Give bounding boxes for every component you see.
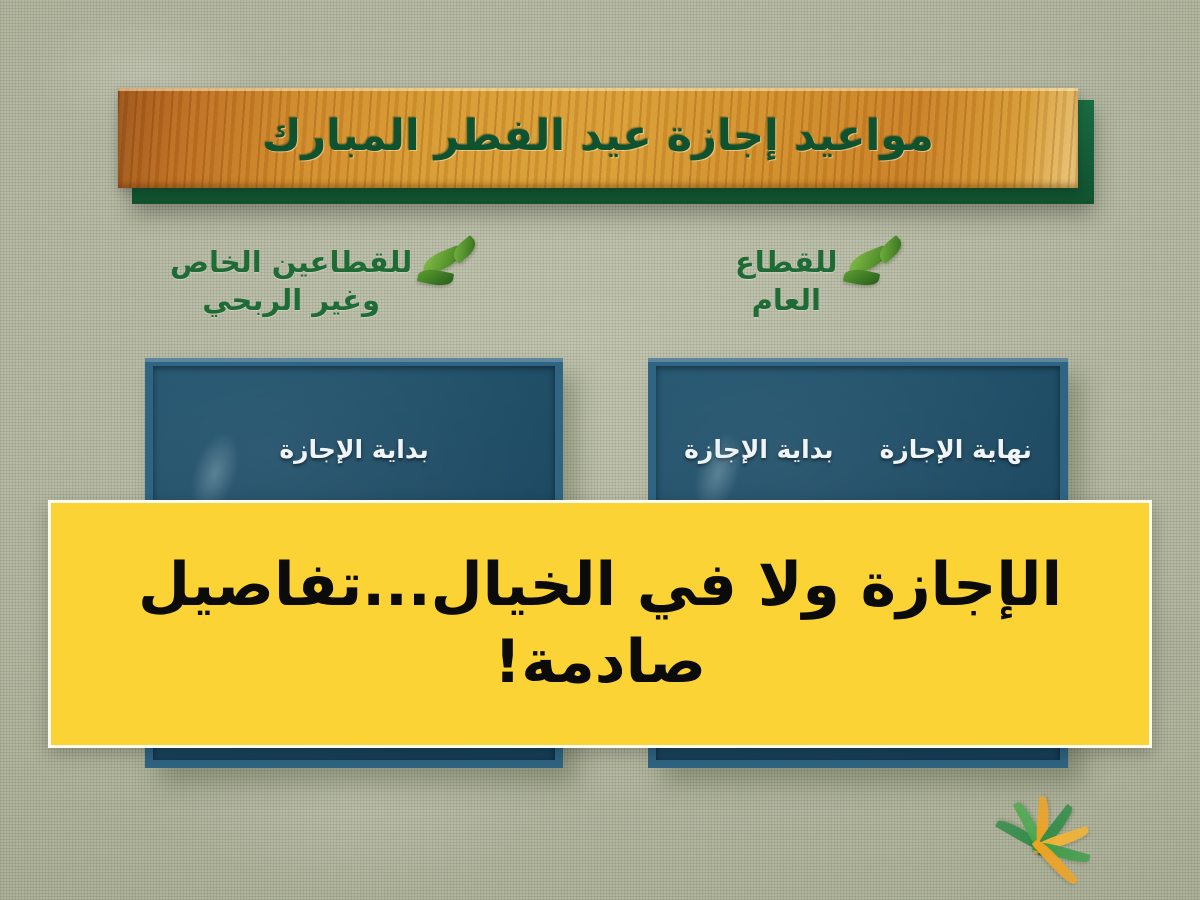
leaf-cluster-icon (844, 244, 906, 304)
leaf-cluster-icon (418, 244, 480, 304)
leaf-icon (417, 267, 454, 289)
infographic-stage: مواعيد إجازة عيد الفطر المبارك للقطاعين … (0, 0, 1200, 900)
headline-text: الإجازة ولا في الخيال...تفاصيل صادمة! (89, 547, 1111, 701)
section-label-private: للقطاعين الخاص وغير الربحي (170, 244, 480, 319)
plaque-wood-face: مواعيد إجازة عيد الفطر المبارك (118, 88, 1078, 188)
palm-star-logo (985, 815, 1111, 885)
header-plaque: مواعيد إجازة عيد الفطر المبارك (118, 88, 1090, 200)
section-label-private-text: للقطاعين الخاص وغير الربحي (170, 244, 412, 319)
section-label-public-text: للقطاع العام (735, 244, 838, 319)
page-title: مواعيد إجازة عيد الفطر المبارك (262, 111, 934, 161)
section-label-public: للقطاع العام (735, 244, 906, 319)
column-heading: بداية الإجازة (279, 431, 428, 468)
column-heading: نهاية الإجازة (880, 431, 1032, 468)
leaf-icon (842, 267, 879, 289)
headline-banner: الإجازة ولا في الخيال...تفاصيل صادمة! (48, 500, 1152, 748)
column-heading: بداية الإجازة (684, 431, 833, 468)
